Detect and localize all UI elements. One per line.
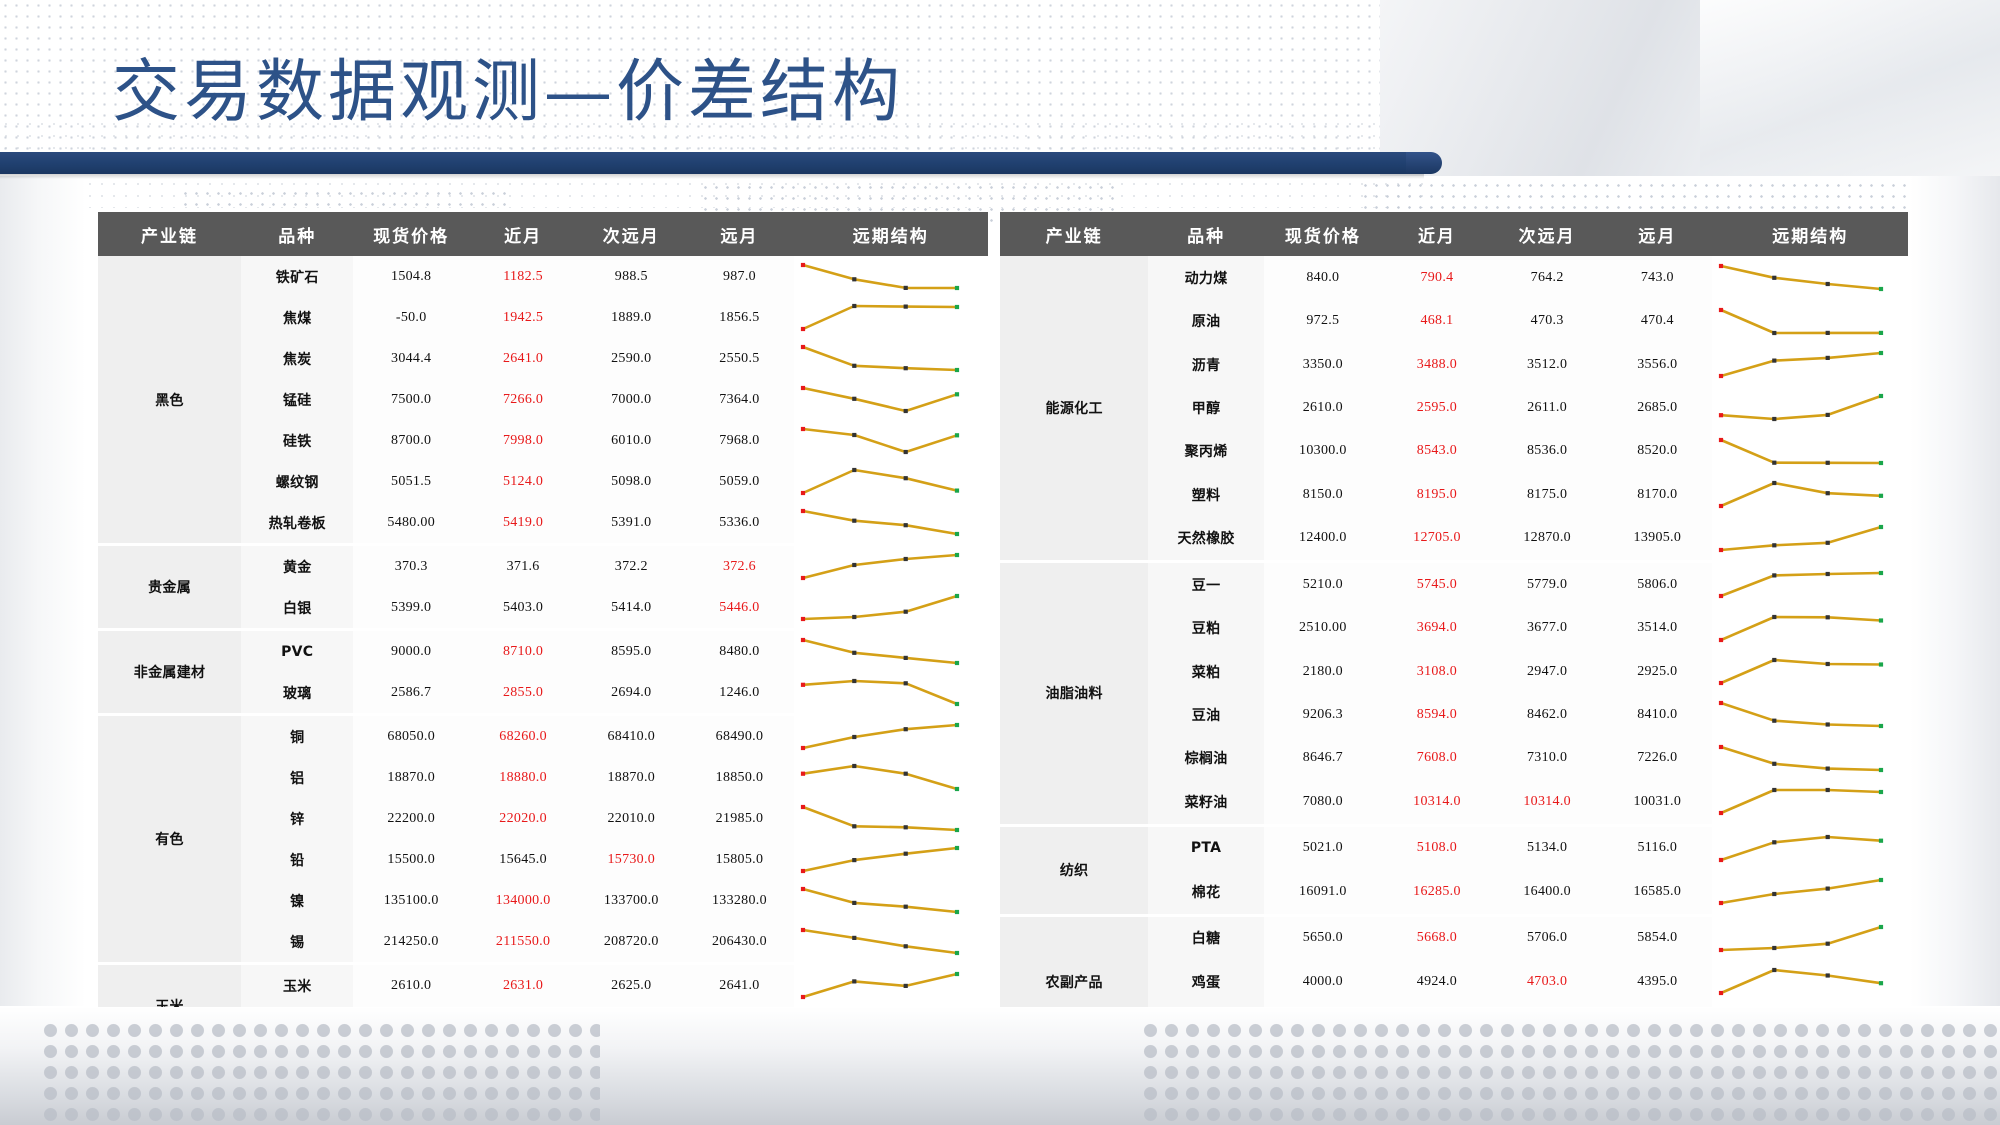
variety-name-cell: 甲醇: [1148, 386, 1264, 429]
spot-price-cell: 8150.0: [1264, 473, 1382, 516]
next-far-month-cell: 988.5: [577, 256, 685, 297]
column-header-3: 近月: [1382, 212, 1492, 256]
variety-name-cell: 聚丙烯: [1148, 430, 1264, 473]
variety-name-cell: 鸡蛋: [1148, 960, 1264, 1003]
forward-structure-sparkline: [1712, 825, 1908, 870]
table-row: 能源化工动力煤840.0790.4764.2743.0: [1000, 256, 1908, 299]
far-month-cell: 8170.0: [1602, 473, 1712, 516]
far-month-cell: 987.0: [685, 256, 793, 297]
far-month-cell: 5059.0: [685, 461, 793, 502]
forward-structure-sparkline: [794, 672, 988, 715]
near-month-cell: 5403.0: [469, 587, 577, 630]
column-header-0: 产业链: [98, 212, 241, 256]
near-month-cell: 468.1: [1382, 299, 1492, 342]
near-month-cell: 18880.0: [469, 757, 577, 798]
far-month-cell: 5116.0: [1602, 825, 1712, 870]
far-month-cell: 68490.0: [685, 715, 793, 758]
far-month-cell: 2685.0: [1602, 386, 1712, 429]
forward-structure-sparkline: [1712, 693, 1908, 736]
near-month-cell: 2631.0: [469, 964, 577, 1007]
far-month-cell: 5336.0: [685, 502, 793, 545]
forward-structure-sparkline: [1712, 256, 1908, 299]
column-header-4: 次远月: [577, 212, 685, 256]
industry-chain-cell: 贵金属: [98, 545, 241, 630]
next-far-month-cell: 5098.0: [577, 461, 685, 502]
far-month-cell: 2925.0: [1602, 650, 1712, 693]
spot-price-cell: 1504.8: [353, 256, 469, 297]
spot-price-cell: 5650.0: [1264, 915, 1382, 960]
spot-price-cell: 5399.0: [353, 587, 469, 630]
variety-name-cell: 动力煤: [1148, 256, 1264, 299]
variety-name-cell: 玻璃: [241, 672, 353, 715]
industry-chain-cell: 能源化工: [1000, 256, 1148, 561]
forward-structure-sparkline: [794, 921, 988, 964]
near-month-cell: 134000.0: [469, 880, 577, 921]
forward-structure-sparkline: [794, 880, 988, 921]
variety-name-cell: 铜: [241, 715, 353, 758]
far-month-cell: 21985.0: [685, 798, 793, 839]
far-month-cell: 15805.0: [685, 839, 793, 880]
far-month-cell: 18850.0: [685, 757, 793, 798]
industry-chain-cell: 纺织: [1000, 825, 1148, 915]
near-month-cell: 790.4: [1382, 256, 1492, 299]
next-far-month-cell: 5779.0: [1492, 561, 1602, 606]
table-header-row: 产业链品种现货价格近月次远月远月远期结构: [98, 212, 988, 256]
near-month-cell: 22020.0: [469, 798, 577, 839]
forward-structure-sparkline: [794, 461, 988, 502]
far-month-cell: 2641.0: [685, 964, 793, 1007]
forward-structure-sparkline: [794, 587, 988, 630]
spot-price-cell: 8646.7: [1264, 737, 1382, 780]
next-far-month-cell: 5134.0: [1492, 825, 1602, 870]
spot-price-cell: 2586.7: [353, 672, 469, 715]
forward-structure-sparkline: [1712, 737, 1908, 780]
next-far-month-cell: 1889.0: [577, 297, 685, 338]
far-month-cell: 7226.0: [1602, 737, 1712, 780]
table-row: 纺织PTA5021.05108.05134.05116.0: [1000, 825, 1908, 870]
next-far-month-cell: 2694.0: [577, 672, 685, 715]
industry-chain-cell: 非金属建材: [98, 630, 241, 715]
next-far-month-cell: 12870.0: [1492, 516, 1602, 561]
decorative-header-sheen-overlay: [1700, 0, 2000, 176]
forward-structure-sparkline: [1712, 606, 1908, 649]
far-month-cell: 5806.0: [1602, 561, 1712, 606]
far-month-cell: 16585.0: [1602, 870, 1712, 915]
next-far-month-cell: 16400.0: [1492, 870, 1602, 915]
near-month-cell: 8710.0: [469, 630, 577, 673]
variety-name-cell: 镍: [241, 880, 353, 921]
variety-name-cell: 热轧卷板: [241, 502, 353, 545]
next-far-month-cell: 7310.0: [1492, 737, 1602, 780]
forward-structure-sparkline: [1712, 870, 1908, 915]
spot-price-cell: 5051.5: [353, 461, 469, 502]
far-month-cell: 743.0: [1602, 256, 1712, 299]
variety-name-cell: PTA: [1148, 825, 1264, 870]
next-far-month-cell: 3512.0: [1492, 343, 1602, 386]
near-month-cell: 5419.0: [469, 502, 577, 545]
table-header-row: 产业链品种现货价格近月次远月远月远期结构: [1000, 212, 1908, 256]
column-header-5: 远月: [685, 212, 793, 256]
near-month-cell: 8594.0: [1382, 693, 1492, 736]
near-month-cell: 3488.0: [1382, 343, 1492, 386]
column-header-6: 远期结构: [1712, 212, 1908, 256]
variety-name-cell: 焦炭: [241, 338, 353, 379]
near-month-cell: 3694.0: [1382, 606, 1492, 649]
near-month-cell: 5124.0: [469, 461, 577, 502]
next-far-month-cell: 8462.0: [1492, 693, 1602, 736]
variety-name-cell: 棕榈油: [1148, 737, 1264, 780]
forward-structure-sparkline: [1712, 430, 1908, 473]
forward-structure-sparkline: [1712, 650, 1908, 693]
spot-price-cell: 18870.0: [353, 757, 469, 798]
spot-price-cell: 5210.0: [1264, 561, 1382, 606]
spot-price-cell: 10300.0: [1264, 430, 1382, 473]
variety-name-cell: 铝: [241, 757, 353, 798]
spot-price-cell: 16091.0: [1264, 870, 1382, 915]
far-month-cell: 7968.0: [685, 420, 793, 461]
near-month-cell: 15645.0: [469, 839, 577, 880]
column-header-5: 远月: [1602, 212, 1712, 256]
spot-price-cell: 2180.0: [1264, 650, 1382, 693]
far-month-cell: 4395.0: [1602, 960, 1712, 1003]
near-month-cell: 8195.0: [1382, 473, 1492, 516]
decorative-halftone-right: [1140, 1020, 2000, 1125]
spot-price-cell: 135100.0: [353, 880, 469, 921]
spot-price-cell: 2610.0: [353, 964, 469, 1007]
variety-name-cell: 铅: [241, 839, 353, 880]
variety-name-cell: 豆粕: [1148, 606, 1264, 649]
spot-price-cell: 5021.0: [1264, 825, 1382, 870]
spot-price-cell: 5480.00: [353, 502, 469, 545]
far-month-cell: 470.4: [1602, 299, 1712, 342]
spot-price-cell: 972.5: [1264, 299, 1382, 342]
table-row: 黑色铁矿石1504.81182.5988.5987.0: [98, 256, 988, 297]
spot-price-cell: 8700.0: [353, 420, 469, 461]
spot-price-cell: 3044.4: [353, 338, 469, 379]
near-month-cell: 1942.5: [469, 297, 577, 338]
column-header-2: 现货价格: [1264, 212, 1382, 256]
decorative-left-edge: [0, 176, 86, 1006]
forward-structure-sparkline: [794, 379, 988, 420]
variety-name-cell: 棉花: [1148, 870, 1264, 915]
price-table-right: 产业链品种现货价格近月次远月远月远期结构能源化工动力煤840.0790.4764…: [1000, 212, 1908, 1047]
column-header-1: 品种: [1148, 212, 1264, 256]
variety-name-cell: 天然橡胶: [1148, 516, 1264, 561]
forward-structure-sparkline: [794, 297, 988, 338]
table-row: 油脂油料豆一5210.05745.05779.05806.0: [1000, 561, 1908, 606]
spot-price-cell: -50.0: [353, 297, 469, 338]
spot-price-cell: 2610.0: [1264, 386, 1382, 429]
spot-price-cell: 22200.0: [353, 798, 469, 839]
near-month-cell: 7608.0: [1382, 737, 1492, 780]
next-far-month-cell: 6010.0: [577, 420, 685, 461]
near-month-cell: 5668.0: [1382, 915, 1492, 960]
near-month-cell: 7266.0: [469, 379, 577, 420]
far-month-cell: 10031.0: [1602, 780, 1712, 825]
far-month-cell: 1246.0: [685, 672, 793, 715]
spot-price-cell: 840.0: [1264, 256, 1382, 299]
forward-structure-sparkline: [794, 338, 988, 379]
far-month-cell: 3556.0: [1602, 343, 1712, 386]
far-month-cell: 5446.0: [685, 587, 793, 630]
spot-price-cell: 9206.3: [1264, 693, 1382, 736]
table-row: 非金属建材PVC9000.08710.08595.08480.0: [98, 630, 988, 673]
next-far-month-cell: 764.2: [1492, 256, 1602, 299]
variety-name-cell: 菜籽油: [1148, 780, 1264, 825]
column-header-3: 近月: [469, 212, 577, 256]
far-month-cell: 8410.0: [1602, 693, 1712, 736]
forward-structure-sparkline: [1712, 561, 1908, 606]
near-month-cell: 371.6: [469, 545, 577, 588]
title-underline-cap: [1406, 152, 1442, 174]
next-far-month-cell: 3677.0: [1492, 606, 1602, 649]
variety-name-cell: 原油: [1148, 299, 1264, 342]
industry-chain-cell: 黑色: [98, 256, 241, 545]
far-month-cell: 372.6: [685, 545, 793, 588]
title-underline-bar: [0, 152, 1424, 174]
next-far-month-cell: 208720.0: [577, 921, 685, 964]
forward-structure-sparkline: [794, 839, 988, 880]
next-far-month-cell: 8536.0: [1492, 430, 1602, 473]
next-far-month-cell: 15730.0: [577, 839, 685, 880]
variety-name-cell: 豆油: [1148, 693, 1264, 736]
next-far-month-cell: 68410.0: [577, 715, 685, 758]
far-month-cell: 13905.0: [1602, 516, 1712, 561]
far-month-cell: 206430.0: [685, 921, 793, 964]
variety-name-cell: 螺纹钢: [241, 461, 353, 502]
next-far-month-cell: 5391.0: [577, 502, 685, 545]
next-far-month-cell: 2611.0: [1492, 386, 1602, 429]
far-month-cell: 8480.0: [685, 630, 793, 673]
variety-name-cell: PVC: [241, 630, 353, 673]
variety-name-cell: 黄金: [241, 545, 353, 588]
next-far-month-cell: 5414.0: [577, 587, 685, 630]
forward-structure-sparkline: [794, 798, 988, 839]
variety-name-cell: 玉米: [241, 964, 353, 1007]
variety-name-cell: 硅铁: [241, 420, 353, 461]
variety-name-cell: 锡: [241, 921, 353, 964]
variety-name-cell: 铁矿石: [241, 256, 353, 297]
table-row: 玉米玉米2610.02631.02625.02641.0: [98, 964, 988, 1007]
next-far-month-cell: 7000.0: [577, 379, 685, 420]
forward-structure-sparkline: [1712, 299, 1908, 342]
near-month-cell: 5108.0: [1382, 825, 1492, 870]
near-month-cell: 3108.0: [1382, 650, 1492, 693]
next-far-month-cell: 372.2: [577, 545, 685, 588]
far-month-cell: 2550.5: [685, 338, 793, 379]
near-month-cell: 4924.0: [1382, 960, 1492, 1003]
forward-structure-sparkline: [794, 715, 988, 758]
variety-name-cell: 豆一: [1148, 561, 1264, 606]
forward-structure-sparkline: [1712, 386, 1908, 429]
next-far-month-cell: 18870.0: [577, 757, 685, 798]
spot-price-cell: 2510.00: [1264, 606, 1382, 649]
forward-structure-sparkline: [794, 964, 988, 1007]
far-month-cell: 5854.0: [1602, 915, 1712, 960]
variety-name-cell: 锌: [241, 798, 353, 839]
forward-structure-sparkline: [794, 502, 988, 545]
column-header-6: 远期结构: [794, 212, 988, 256]
forward-structure-sparkline: [794, 757, 988, 798]
far-month-cell: 1856.5: [685, 297, 793, 338]
variety-name-cell: 塑料: [1148, 473, 1264, 516]
far-month-cell: 133280.0: [685, 880, 793, 921]
spot-price-cell: 9000.0: [353, 630, 469, 673]
spot-price-cell: 214250.0: [353, 921, 469, 964]
near-month-cell: 68260.0: [469, 715, 577, 758]
column-header-2: 现货价格: [353, 212, 469, 256]
forward-structure-sparkline: [1712, 516, 1908, 561]
forward-structure-sparkline: [794, 420, 988, 461]
next-far-month-cell: 4703.0: [1492, 960, 1602, 1003]
spot-price-cell: 370.3: [353, 545, 469, 588]
page-title: 交易数据观测—价差结构: [112, 36, 904, 135]
near-month-cell: 1182.5: [469, 256, 577, 297]
next-far-month-cell: 10314.0: [1492, 780, 1602, 825]
industry-chain-cell: 油脂油料: [1000, 561, 1148, 825]
decorative-halftone-left: [40, 1020, 600, 1125]
next-far-month-cell: 8175.0: [1492, 473, 1602, 516]
next-far-month-cell: 470.3: [1492, 299, 1602, 342]
spot-price-cell: 7080.0: [1264, 780, 1382, 825]
near-month-cell: 2855.0: [469, 672, 577, 715]
next-far-month-cell: 2590.0: [577, 338, 685, 379]
near-month-cell: 8543.0: [1382, 430, 1492, 473]
column-header-4: 次远月: [1492, 212, 1602, 256]
forward-structure-sparkline: [1712, 960, 1908, 1003]
variety-name-cell: 焦煤: [241, 297, 353, 338]
column-header-1: 品种: [241, 212, 353, 256]
spot-price-cell: 4000.0: [1264, 960, 1382, 1003]
near-month-cell: 10314.0: [1382, 780, 1492, 825]
spot-price-cell: 15500.0: [353, 839, 469, 880]
far-month-cell: 3514.0: [1602, 606, 1712, 649]
variety-name-cell: 菜粕: [1148, 650, 1264, 693]
spot-price-cell: 68050.0: [353, 715, 469, 758]
next-far-month-cell: 22010.0: [577, 798, 685, 839]
near-month-cell: 2641.0: [469, 338, 577, 379]
next-far-month-cell: 8595.0: [577, 630, 685, 673]
spot-price-cell: 12400.0: [1264, 516, 1382, 561]
near-month-cell: 211550.0: [469, 921, 577, 964]
variety-name-cell: 锰硅: [241, 379, 353, 420]
table-row: 贵金属黄金370.3371.6372.2372.6: [98, 545, 988, 588]
forward-structure-sparkline: [794, 630, 988, 673]
forward-structure-sparkline: [1712, 473, 1908, 516]
far-month-cell: 8520.0: [1602, 430, 1712, 473]
next-far-month-cell: 2625.0: [577, 964, 685, 1007]
near-month-cell: 7998.0: [469, 420, 577, 461]
title-underline-shadow: [0, 174, 1424, 179]
forward-structure-sparkline: [1712, 780, 1908, 825]
variety-name-cell: 沥青: [1148, 343, 1264, 386]
far-month-cell: 7364.0: [685, 379, 793, 420]
spot-price-cell: 3350.0: [1264, 343, 1382, 386]
industry-chain-cell: 有色: [98, 715, 241, 964]
column-header-0: 产业链: [1000, 212, 1148, 256]
spot-price-cell: 7500.0: [353, 379, 469, 420]
forward-structure-sparkline: [1712, 343, 1908, 386]
table-row: 农副产品白糖5650.05668.05706.05854.0: [1000, 915, 1908, 960]
slide-canvas: 交易数据观测—价差结构 产业链品种现货价格近月次远月远月远期结构黑色铁矿石150…: [0, 0, 2000, 1125]
forward-structure-sparkline: [794, 256, 988, 297]
near-month-cell: 5745.0: [1382, 561, 1492, 606]
variety-name-cell: 白糖: [1148, 915, 1264, 960]
price-table-left: 产业链品种现货价格近月次远月远月远期结构黑色铁矿石1504.81182.5988…: [98, 212, 988, 1047]
near-month-cell: 2595.0: [1382, 386, 1492, 429]
next-far-month-cell: 5706.0: [1492, 915, 1602, 960]
near-month-cell: 16285.0: [1382, 870, 1492, 915]
variety-name-cell: 白银: [241, 587, 353, 630]
forward-structure-sparkline: [1712, 915, 1908, 960]
near-month-cell: 12705.0: [1382, 516, 1492, 561]
next-far-month-cell: 133700.0: [577, 880, 685, 921]
next-far-month-cell: 2947.0: [1492, 650, 1602, 693]
table-row: 有色铜68050.068260.068410.068490.0: [98, 715, 988, 758]
forward-structure-sparkline: [794, 545, 988, 588]
tables-container: 产业链品种现货价格近月次远月远月远期结构黑色铁矿石1504.81182.5988…: [98, 212, 1908, 1047]
decorative-right-edge: [1910, 176, 2000, 1006]
